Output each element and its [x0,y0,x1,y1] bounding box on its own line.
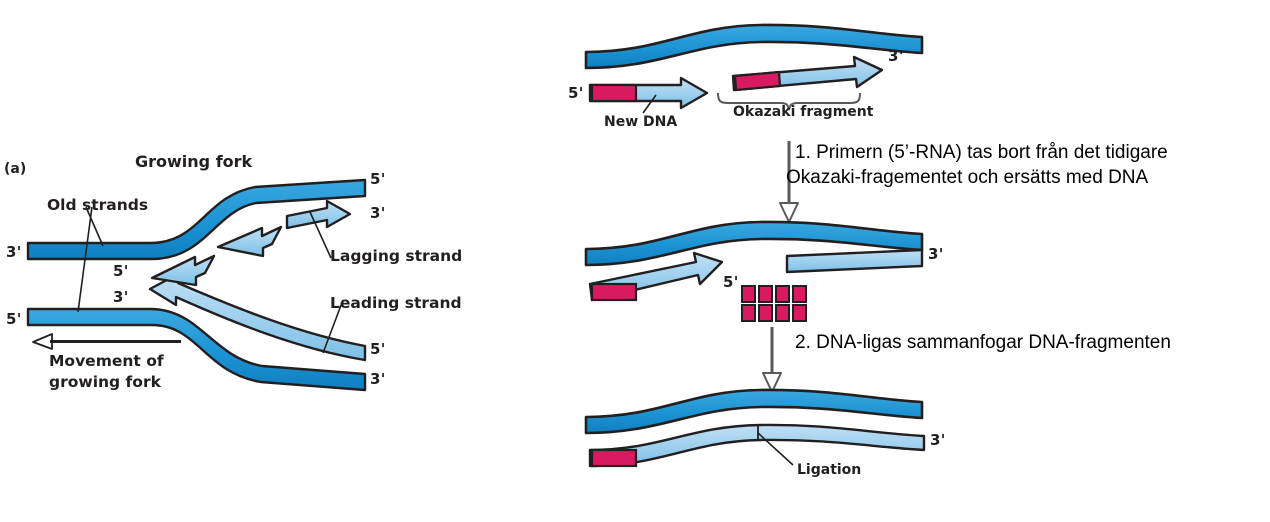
ligase-squares [742,286,806,321]
step-2-arrow [763,327,781,392]
panel-b-stage-2 [586,390,924,466]
lagging-strand-label: Lagging strand [330,247,462,265]
annotation-step-1-line-2: Okazaki-fragementet och ersätts med DNA [786,165,1148,190]
rna-primer-stage1 [592,284,636,300]
panel-a-tag: (a) [4,161,26,177]
panel-b-stage-0 [586,25,922,113]
okazaki-fragment-label: Okazaki fragment [733,104,873,120]
repaired-fragment-stage1 [787,250,922,272]
stage0-prime-left: 5' [568,84,584,102]
annotation-step-2-line-1: 2. DNA-ligas sammanfogar DNA-fragmenten [795,330,1171,355]
prime-label-top-right-lower: 3' [370,204,386,222]
stage1-prime-right: 3' [928,245,944,263]
figure-canvas: (a) Growing fork Old strands Lagging str… [0,0,1270,522]
old-strands-label: Old strands [47,196,148,214]
panel-b-stage-1 [586,222,922,321]
rna-primer-new-dna [592,85,636,101]
stage2-prime-right: 3' [930,431,946,449]
okazaki-arrow-3 [287,201,350,228]
new-dna-label: New DNA [604,114,677,130]
ligated-strand [590,425,924,466]
movement-arrow [33,334,181,349]
template-strand-stage0 [586,25,922,68]
stage1-prime-mid: 5' [723,273,739,291]
annotation-step-1-line-1: 1. Primern (5’-RNA) tas bort från det ti… [795,140,1168,165]
leading-strand-label: Leading strand [330,294,462,312]
prime-label-bottom-right-lower: 3' [370,370,386,388]
rna-primer-okazaki [735,72,780,90]
movement-label-line1: Movement of [49,352,164,370]
stage0-prime-right: 3' [888,47,904,65]
prime-label-fork-lower: 3' [113,288,129,306]
prime-label-bottom-left: 5' [6,310,22,328]
prime-label-top-left: 3' [6,243,22,261]
okazaki-arrow-2 [218,227,281,256]
rna-primer-stage2 [592,450,636,466]
panel-a-title: Growing fork [135,152,252,171]
prime-label-bottom-right-upper: 5' [370,340,386,358]
ligation-label: Ligation [797,462,861,478]
dna-replication-diagram [0,0,1270,522]
prime-label-fork-upper: 5' [113,262,129,280]
prime-label-top-right-upper: 5' [370,170,386,188]
movement-label-line2: growing fork [49,373,161,391]
okazaki-arrow-1 [152,256,214,285]
